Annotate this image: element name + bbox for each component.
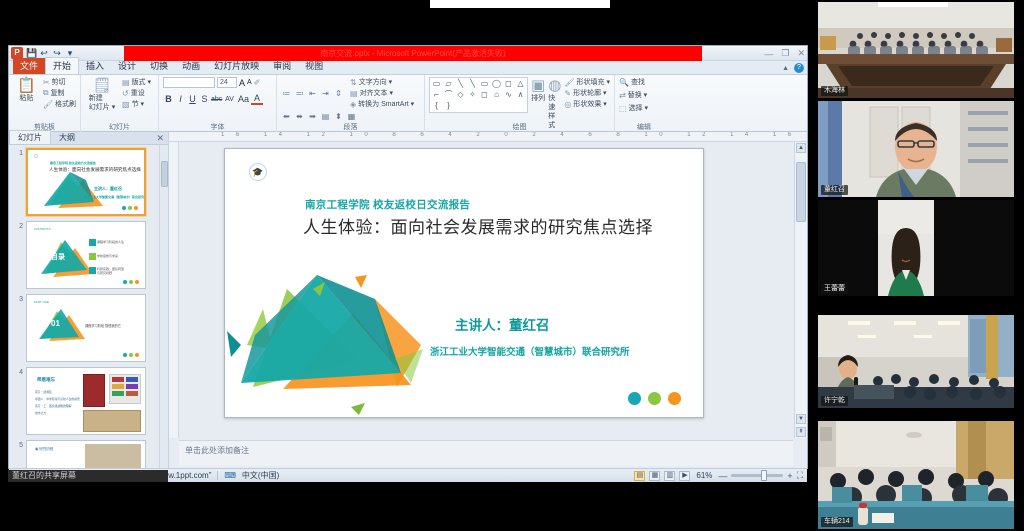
help-icon[interactable]: ? [794, 63, 804, 73]
format-painter-label: 格式刷 [55, 99, 76, 109]
thumb-institute: 浙江工业大学智能交通（智慧城市）联合研究所 [84, 195, 146, 199]
slide-thumbnail-1[interactable]: 南京工程学院 校友返校日交流报告 人生体验：面向社会发展需求的研究焦点选择 主讲… [26, 148, 146, 216]
slide-speaker[interactable]: 主讲人：董红召 [455, 314, 550, 334]
shape-fill-button[interactable]: 🖌 形状填充 ▾ [564, 77, 610, 87]
shape-icon-3[interactable]: ╲ [467, 79, 478, 89]
stage-scrollbar[interactable]: ▲ ▼ ⇞ [794, 142, 807, 438]
thumb-number: 4 [11, 367, 23, 435]
new-slide-icon: 🗒 [92, 77, 111, 94]
text-direction-icon: ⇅ [350, 78, 357, 87]
participant-name: 车辆214 [821, 517, 853, 527]
group-label-font: 字体 [159, 122, 276, 132]
slide-thumbnail-list[interactable]: 1 南京工程学院 校友返校日交流报告 人生体验：面向社会发展需求的研究焦点选择 [9, 145, 168, 468]
arrange-label: 排列 [531, 94, 545, 103]
shape-icon-9[interactable]: ⌒ [443, 90, 454, 100]
layout-icon: ▤ [122, 78, 130, 87]
cut-label: 剪切 [52, 77, 66, 87]
ribbon: 📋 粘贴 ✂ 剪切 ⧉ 复制 [9, 75, 807, 132]
tab-file[interactable]: 文件 [13, 58, 45, 74]
thumb4-line-2: 南京・工：国家级战略的理解 [35, 404, 71, 408]
convert-smartart-label: 转换为 SmartArt ▾ [358, 99, 414, 109]
shape-icon-12[interactable]: ◻ [479, 90, 490, 100]
shape-fill-label: 形状填充 ▾ [577, 77, 610, 87]
thumb-number: 2 [11, 221, 23, 289]
group-label-editing: 编辑 [615, 122, 673, 132]
participant-name: 许宁乾 [821, 396, 848, 406]
group-label-slides: 幻灯片 [81, 122, 158, 132]
shrink-font-icon[interactable]: A [247, 79, 252, 86]
align-right-button[interactable]: ➡ [307, 111, 318, 122]
text-direction-button[interactable]: ⇅ 文字方向 ▾ [350, 77, 414, 87]
shape-icon-15[interactable]: ∧ [515, 90, 526, 100]
increase-indent-button[interactable]: ⇥ [320, 88, 331, 99]
replace-button[interactable]: ⇄ 替换 ▾ [619, 90, 648, 100]
ribbon-tab-bar[interactable]: 文件 开始 插入 设计 切换 动画 幻灯片放映 审阅 视图 ▲ ? [9, 61, 807, 75]
badge-chart-icon [668, 392, 681, 405]
thumb3-number-label: 01 [51, 319, 60, 328]
list-item[interactable]: 4 师恩难忘 南京・建邺区 中国人：中学阶段与高校人生的感悟 南京・工：国家级战… [11, 367, 166, 435]
tab-view[interactable]: 视图 [298, 58, 330, 74]
text-shadow-button[interactable]: S [199, 94, 210, 104]
video-scene-office [818, 101, 1014, 197]
bold-button[interactable]: B [163, 94, 174, 104]
thumb3-decoration [27, 295, 146, 362]
close-icon[interactable]: ✕ [797, 48, 805, 59]
section-button[interactable]: ▧ 节 ▾ [122, 99, 151, 109]
character-spacing-button[interactable]: AV [223, 96, 236, 103]
save-icon[interactable]: 💾 [26, 48, 36, 58]
zoom-slider[interactable] [731, 474, 783, 477]
new-slide-button[interactable]: 🗒 新建 幻灯片 ▾ [85, 77, 119, 112]
reset-label: 重设 [131, 88, 145, 98]
thumb4-photo-certificate [83, 374, 105, 407]
zoom-in-button[interactable]: + [787, 471, 792, 481]
scrollbar-thumb[interactable] [161, 161, 168, 187]
bullets-button[interactable]: ≔ [281, 88, 292, 99]
slide-thumbnail-5[interactable]: ▣ 研究历程 [26, 440, 146, 468]
font-name-input[interactable] [163, 77, 215, 88]
shape-effects-icon: ◎ [564, 100, 571, 109]
align-text-icon: ▤ [350, 89, 358, 98]
badge-home-icon [628, 392, 641, 405]
cut-button[interactable]: ✂ 剪切 [43, 77, 76, 87]
thumb4-line-1: 中国人：中学阶段与高校人生的感悟 [35, 397, 80, 401]
slide-editing-stage: 16 14 12 10 8 6 4 2 0 2 4 6 8 10 12 14 1… [169, 132, 807, 468]
video-tile-0[interactable]: 木海林 [818, 2, 1014, 98]
thumb4-photo-grid [109, 374, 141, 404]
minimize-icon[interactable]: — [764, 49, 773, 59]
fit-to-window-button[interactable]: ⛶ [797, 470, 803, 481]
tab-transitions[interactable]: 切换 [143, 58, 175, 74]
tab-home[interactable]: 开始 [45, 57, 79, 74]
reading-view-button[interactable]: ▥ [664, 471, 675, 481]
reset-button[interactable]: ↺ 重设 [122, 88, 151, 98]
shape-icon-16[interactable]: { [431, 101, 442, 111]
select-icon: ⬚ [619, 104, 627, 113]
paste-icon: 📋 [17, 77, 36, 94]
shape-icon-0[interactable]: ▭ [431, 79, 442, 89]
slide-institute[interactable]: 浙江工业大学智能交通（智慧城市）联合研究所 [430, 344, 630, 358]
layout-button[interactable]: ▤ 版式 ▾ [122, 77, 151, 87]
thumb5-photo [85, 444, 141, 468]
slide-sorter-view-button[interactable]: ▦ [649, 471, 660, 481]
slide-thumbnail-4[interactable]: 师恩难忘 南京・建邺区 中国人：中学阶段与高校人生的感悟 南京・工：国家级战略的… [26, 367, 146, 435]
ribbon-group-paragraph: ≔ ≕ ⇤ ⇥ ⇕ ⇅ 文字方向 ▾ ▤ [277, 75, 425, 132]
shape-icon-5[interactable]: ◯ [491, 79, 502, 89]
find-button[interactable]: 🔍 查找 [619, 77, 648, 87]
normal-view-button[interactable]: ▤ [634, 471, 645, 481]
status-right-controls[interactable]: ▤ ▦ ▥ ▶ 61% — + ⛶ [634, 470, 803, 481]
ribbon-group-slides: 🗒 新建 幻灯片 ▾ ▤ 版式 ▾ ↺ 重设 [81, 75, 159, 132]
scroll-down-icon[interactable]: ▼ [796, 414, 806, 424]
zoom-out-button[interactable]: — [718, 471, 727, 481]
tab-design[interactable]: 设计 [111, 58, 143, 74]
tab-slideshow[interactable]: 幻灯片放映 [207, 58, 266, 74]
previous-slide-icon[interactable]: ⇞ [796, 427, 806, 437]
scrollbar-thumb[interactable] [796, 162, 806, 222]
ribbon-group-drawing: ▭ ▱ ╲ ╲ ▭ ◯ ◻ △ ⌐ ⌒ ◇ ✧ ◻ [425, 75, 615, 132]
close-slides-panel-icon[interactable]: ✕ [156, 133, 164, 144]
shape-outline-button[interactable]: ✎ 形状轮廓 ▾ [564, 88, 610, 98]
restore-icon[interactable]: ❐ [781, 48, 789, 59]
quick-styles-icon: ◍ [548, 77, 561, 94]
section-icon: ▧ [122, 100, 130, 109]
arrange-icon: ▣ [531, 77, 545, 94]
ribbon-group-clipboard: 📋 粘贴 ✂ 剪切 ⧉ 复制 [9, 75, 81, 132]
zoom-slider-knob[interactable] [761, 470, 767, 481]
thumb-number: 3 [11, 294, 23, 362]
thumb3-text: 课程学习阶段 感悟我的它 [85, 323, 121, 328]
find-label: 查找 [631, 77, 645, 87]
strikethrough-button[interactable]: abc [211, 96, 222, 103]
ribbon-group-font: A A ✐ B I U S abc AV Aa A [159, 75, 277, 132]
powerpoint-window: P 💾 ↩ ↪ ▾ 南京交流.pptx - Microsoft PowerPoi… [8, 45, 808, 469]
horizontal-ruler: 16 14 12 10 8 6 4 2 0 2 4 6 8 10 12 14 1… [169, 132, 807, 142]
thumb-number: 5 [11, 440, 23, 468]
shape-outline-icon: ✎ [564, 89, 571, 98]
format-painter-button[interactable]: 🖌 格式刷 [43, 99, 76, 109]
tab-animations[interactable]: 动画 [175, 58, 207, 74]
screen-share-indicator: 董红召的共享屏幕 [8, 470, 168, 482]
shape-icon-7[interactable]: △ [515, 79, 526, 89]
thumb2-item-1: 学校思想与未来 [97, 254, 118, 258]
shape-icon-1[interactable]: ▱ [443, 79, 454, 89]
replace-icon: ⇄ [619, 91, 626, 100]
font-color-button[interactable]: A [251, 93, 263, 105]
line-spacing-button[interactable]: ⇕ [333, 88, 344, 99]
notes-pane[interactable]: 单击此处添加备注 [179, 440, 793, 466]
align-center-button[interactable]: ⬌ [294, 111, 305, 122]
slide-canvas[interactable]: 🎓 南京工程学院 校友返校日交流报告 人生体验：面向社会发展需求的研究焦点选择 [224, 148, 704, 418]
shape-icon-2[interactable]: ╲ [455, 79, 466, 89]
align-text-label: 对齐文本 ▾ [360, 88, 393, 98]
ribbon-group-editing: 🔍 查找 ⇄ 替换 ▾ ⬚ 选择 ▾ [615, 75, 673, 132]
reset-icon: ↺ [122, 89, 129, 98]
video-scene-classroom-speaker [818, 315, 1014, 408]
shape-icon-6[interactable]: ◻ [503, 79, 514, 89]
thumb-speaker: 主讲人：董红召 [94, 186, 122, 192]
paste-button[interactable]: 📋 粘贴 [13, 77, 40, 103]
shapes-gallery[interactable]: ▭ ▱ ╲ ╲ ▭ ◯ ◻ △ ⌐ ⌒ ◇ ✧ ◻ [429, 77, 528, 113]
list-item[interactable]: 5 ▣ 研究历程 [11, 440, 166, 468]
video-scene-portrait [818, 200, 1014, 296]
participant-name: 木海林 [821, 86, 848, 96]
align-left-button[interactable]: ⬅ [281, 111, 292, 122]
change-case-button[interactable]: Aa [237, 94, 250, 104]
shape-icon-13[interactable]: ⌂ [491, 90, 502, 100]
minimize-ribbon-icon[interactable]: ▲ [782, 65, 789, 72]
distribute-button[interactable]: ⬍ [333, 111, 344, 122]
shared-screen-region: P 💾 ↩ ↪ ▾ 南京交流.pptx - Microsoft PowerPoi… [0, 0, 808, 531]
thumb4-line-0: 南京・建邺区 [35, 390, 52, 395]
video-scene-classroom-students [818, 421, 1014, 529]
video-tile-2[interactable]: 王蕾蕾 [818, 200, 1014, 296]
paintbrush-icon: 🖌 [43, 100, 53, 109]
thumb2-item-2: 科研实践：团队转型 与研究视野 [97, 267, 124, 275]
new-slide-label: 新建 幻灯片 ▾ [89, 94, 115, 112]
copy-button[interactable]: ⧉ 复制 [43, 88, 76, 98]
convert-smartart-button[interactable]: ◈ 转换为 SmartArt ▾ [350, 99, 414, 109]
shape-icon-17[interactable]: } [443, 101, 454, 111]
video-tile-1[interactable]: 董红召 [818, 101, 1014, 197]
thumb-number: 1 [11, 148, 23, 216]
clear-formatting-icon[interactable]: ✐ [254, 78, 261, 87]
shape-effects-button[interactable]: ◎ 形状效果 ▾ [564, 99, 610, 109]
shape-fill-icon: 🖌 [564, 78, 574, 87]
list-item[interactable]: 3 PART ONE 01 课程学习阶段 感悟我的它 [11, 294, 166, 362]
shape-icon-8[interactable]: ⌐ [431, 90, 442, 100]
slides-panel: 幻灯片 大纲 ✕ 1 南京工程学院 校友返校日交流报告 人生体验：面向社会发展需… [9, 132, 169, 468]
slide-show-button[interactable]: ▶ [679, 471, 690, 481]
shape-effects-label: 形状效果 ▾ [573, 99, 606, 109]
editor-main-area: 幻灯片 大纲 ✕ 1 南京工程学院 校友返校日交流报告 人生体验：面向社会发展需… [9, 132, 807, 468]
slides-panel-scrollbar[interactable] [159, 145, 168, 468]
ribbon-help-controls[interactable]: ▲ ? [782, 63, 804, 73]
slide-badge-icons [628, 392, 681, 405]
font-size-input[interactable] [217, 77, 237, 88]
list-item[interactable]: 2 CONTENTS 目录 课程学习阶段的人生 学校思想与未 [11, 221, 166, 289]
badge-screen-icon [648, 392, 661, 405]
video-tile-4[interactable]: 车辆214 [818, 421, 1014, 529]
tab-review[interactable]: 审阅 [266, 58, 298, 74]
align-text-button[interactable]: ▤ 对齐文本 ▾ [350, 88, 414, 98]
slide-decoration-triangles [225, 149, 704, 418]
underline-button[interactable]: U [187, 94, 198, 104]
grow-font-icon[interactable]: A [239, 78, 245, 88]
group-label-drawing: 绘图 [425, 122, 614, 132]
vertical-ruler [169, 142, 179, 438]
arrange-button[interactable]: ▣ 排列 [531, 77, 545, 103]
participant-name: 王蕾蕾 [821, 284, 848, 294]
layout-label: 版式 ▾ [132, 77, 151, 87]
thumb4-photo-plaque [83, 410, 141, 432]
participant-name: 董红召 [821, 185, 848, 195]
numbering-button[interactable]: ≕ [294, 88, 305, 99]
group-label-paragraph: 段落 [277, 122, 424, 132]
tab-insert[interactable]: 插入 [79, 58, 111, 74]
thumb5-title: ▣ 研究历程 [35, 447, 53, 452]
slide-thumbnail-2[interactable]: CONTENTS 目录 课程学习阶段的人生 学校思想与未来 科研实践：团队转型 … [26, 221, 146, 289]
shape-outline-label: 形状轮廓 ▾ [573, 88, 606, 98]
thumb2-decoration [27, 222, 146, 289]
tab-outline[interactable]: 大纲 [51, 131, 83, 144]
justify-button[interactable]: ▤ [320, 111, 331, 122]
scissors-icon: ✂ [43, 78, 50, 87]
slide-thumbnail-3[interactable]: PART ONE 01 课程学习阶段 感悟我的它 [26, 294, 146, 362]
shape-icon-10[interactable]: ◇ [455, 90, 466, 100]
italic-button[interactable]: I [175, 94, 186, 104]
divider [217, 471, 218, 480]
shape-icon-14[interactable]: ∿ [503, 90, 514, 100]
text-direction-label: 文字方向 ▾ [359, 77, 392, 87]
thumb4-title: 师恩难忘 [37, 377, 55, 383]
section-label: 节 ▾ [132, 99, 144, 109]
tab-slides-thumbnails[interactable]: 幻灯片 [9, 130, 51, 144]
copy-label: 复制 [51, 88, 65, 98]
language-label[interactable]: 中文(中国) [242, 470, 279, 481]
slides-panel-tabs[interactable]: 幻灯片 大纲 ✕ [9, 132, 168, 145]
shape-icon-11[interactable]: ✧ [467, 90, 478, 100]
columns-button[interactable]: ▦ [346, 111, 357, 122]
list-item[interactable]: 1 南京工程学院 校友返校日交流报告 人生体验：面向社会发展需求的研究焦点选择 [11, 148, 166, 216]
video-scene-lecture-hall [818, 2, 1014, 98]
video-participants-panel: 木海林 [808, 0, 1024, 531]
decrease-indent-button[interactable]: ⇤ [307, 88, 318, 99]
thumb4-line-3: 城市之力 [35, 411, 46, 415]
remote-desktop-top-strip [0, 0, 808, 45]
replace-label: 替换 ▾ [628, 90, 647, 100]
remote-screen-artifact [430, 0, 610, 8]
smartart-icon: ◈ [350, 100, 356, 109]
window-controls[interactable]: — ❐ ✕ [764, 46, 805, 61]
shape-icon-4[interactable]: ▭ [479, 79, 490, 89]
thumb-badges [122, 206, 138, 210]
search-icon: 🔍 [619, 78, 629, 87]
thumb2-word: 目录 [51, 252, 65, 262]
thumb2-item-0: 课程学习阶段的人生 [97, 240, 124, 244]
copy-icon: ⧉ [43, 88, 49, 98]
zoom-level-label: 61% [696, 471, 712, 480]
screen: P 💾 ↩ ↪ ▾ 南京交流.pptx - Microsoft PowerPoi… [0, 0, 1024, 531]
scroll-up-icon[interactable]: ▲ [796, 143, 806, 153]
select-label: 选择 ▾ [629, 103, 648, 113]
language-icon[interactable]: ⌨ [224, 471, 236, 480]
video-tile-3[interactable]: 许宁乾 [818, 315, 1014, 408]
select-button[interactable]: ⬚ 选择 ▾ [619, 103, 648, 113]
paste-label: 粘贴 [19, 94, 33, 103]
